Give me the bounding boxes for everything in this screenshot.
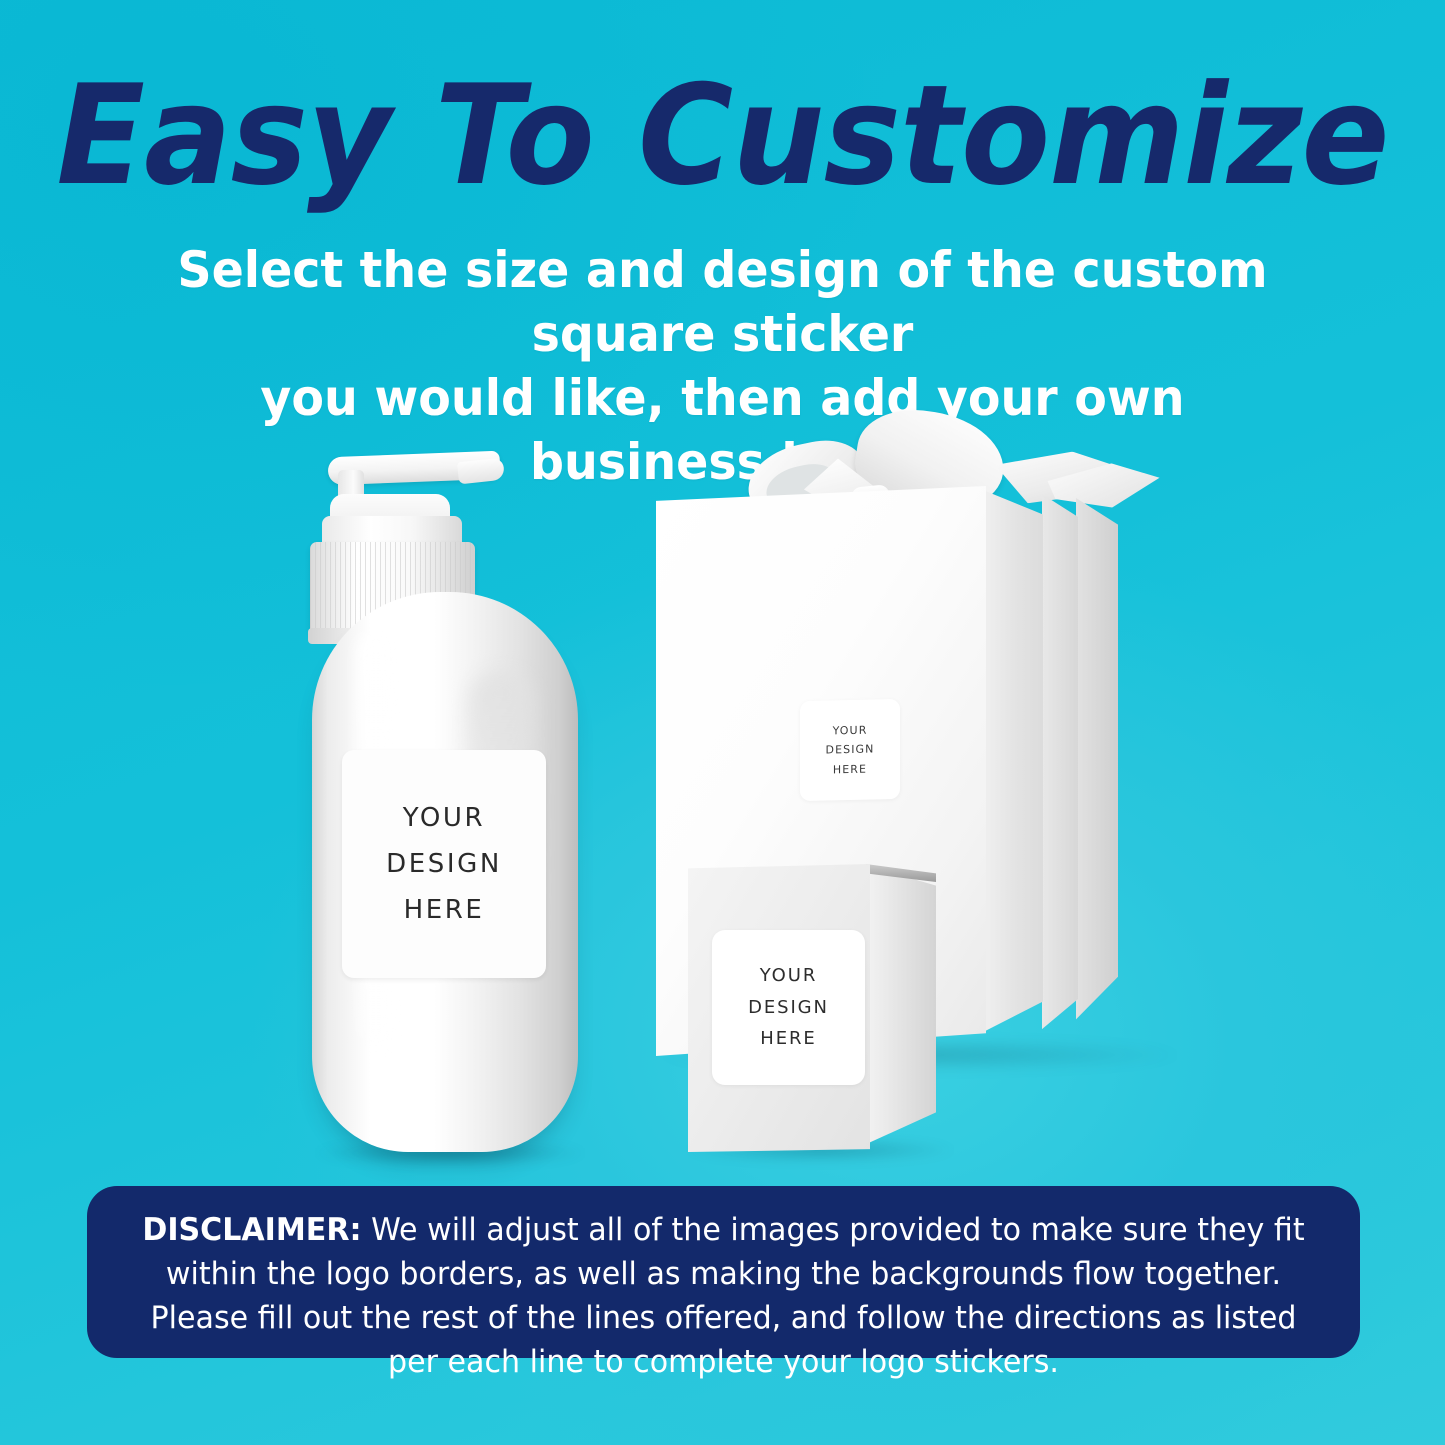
smallbox-sticker-line-3: HERE — [760, 1023, 816, 1055]
gift-box-side-panel-2 — [1042, 494, 1078, 1040]
subtitle-line-1: Select the size and design of the custom… — [141, 238, 1305, 366]
page-title: Easy To Customize — [43, 66, 1401, 207]
disclaimer-text: DISCLAIMER: We will adjust all of the im… — [133, 1208, 1313, 1384]
smallbox-sticker-line-1: YOUR — [760, 960, 817, 992]
small-box-mockup: YOUR DESIGN HERE — [688, 856, 948, 1156]
disclaimer-label: DISCLAIMER: — [142, 1212, 361, 1248]
giftbox-sticker: YOUR DESIGN HERE — [800, 699, 900, 801]
smallbox-sticker-line-2: DESIGN — [748, 992, 829, 1024]
bottle-label-line-1: YOUR — [403, 795, 485, 841]
pump-bottle-mockup: YOUR DESIGN HERE — [300, 432, 600, 1172]
giftbox-sticker-line-3: HERE — [833, 759, 867, 779]
pump-nozzle-tip-icon — [457, 458, 505, 485]
small-box-side-panel — [868, 866, 936, 1146]
disclaimer-banner: DISCLAIMER: We will adjust all of the im… — [87, 1186, 1360, 1358]
giftbox-sticker-line-1: YOUR — [833, 721, 868, 741]
bottle-label-line-3: HERE — [404, 887, 485, 933]
giftbox-sticker-line-2: DESIGN — [826, 740, 875, 760]
gift-box-side-panel — [983, 490, 1043, 1046]
bottle-label-line-2: DESIGN — [386, 841, 502, 887]
gift-box-side-panel-3 — [1076, 498, 1118, 1030]
bottle-label-sticker: YOUR DESIGN HERE — [342, 750, 546, 978]
promo-graphic: Easy To Customize Select the size and de… — [0, 0, 1445, 1445]
smallbox-sticker: YOUR DESIGN HERE — [712, 930, 865, 1085]
